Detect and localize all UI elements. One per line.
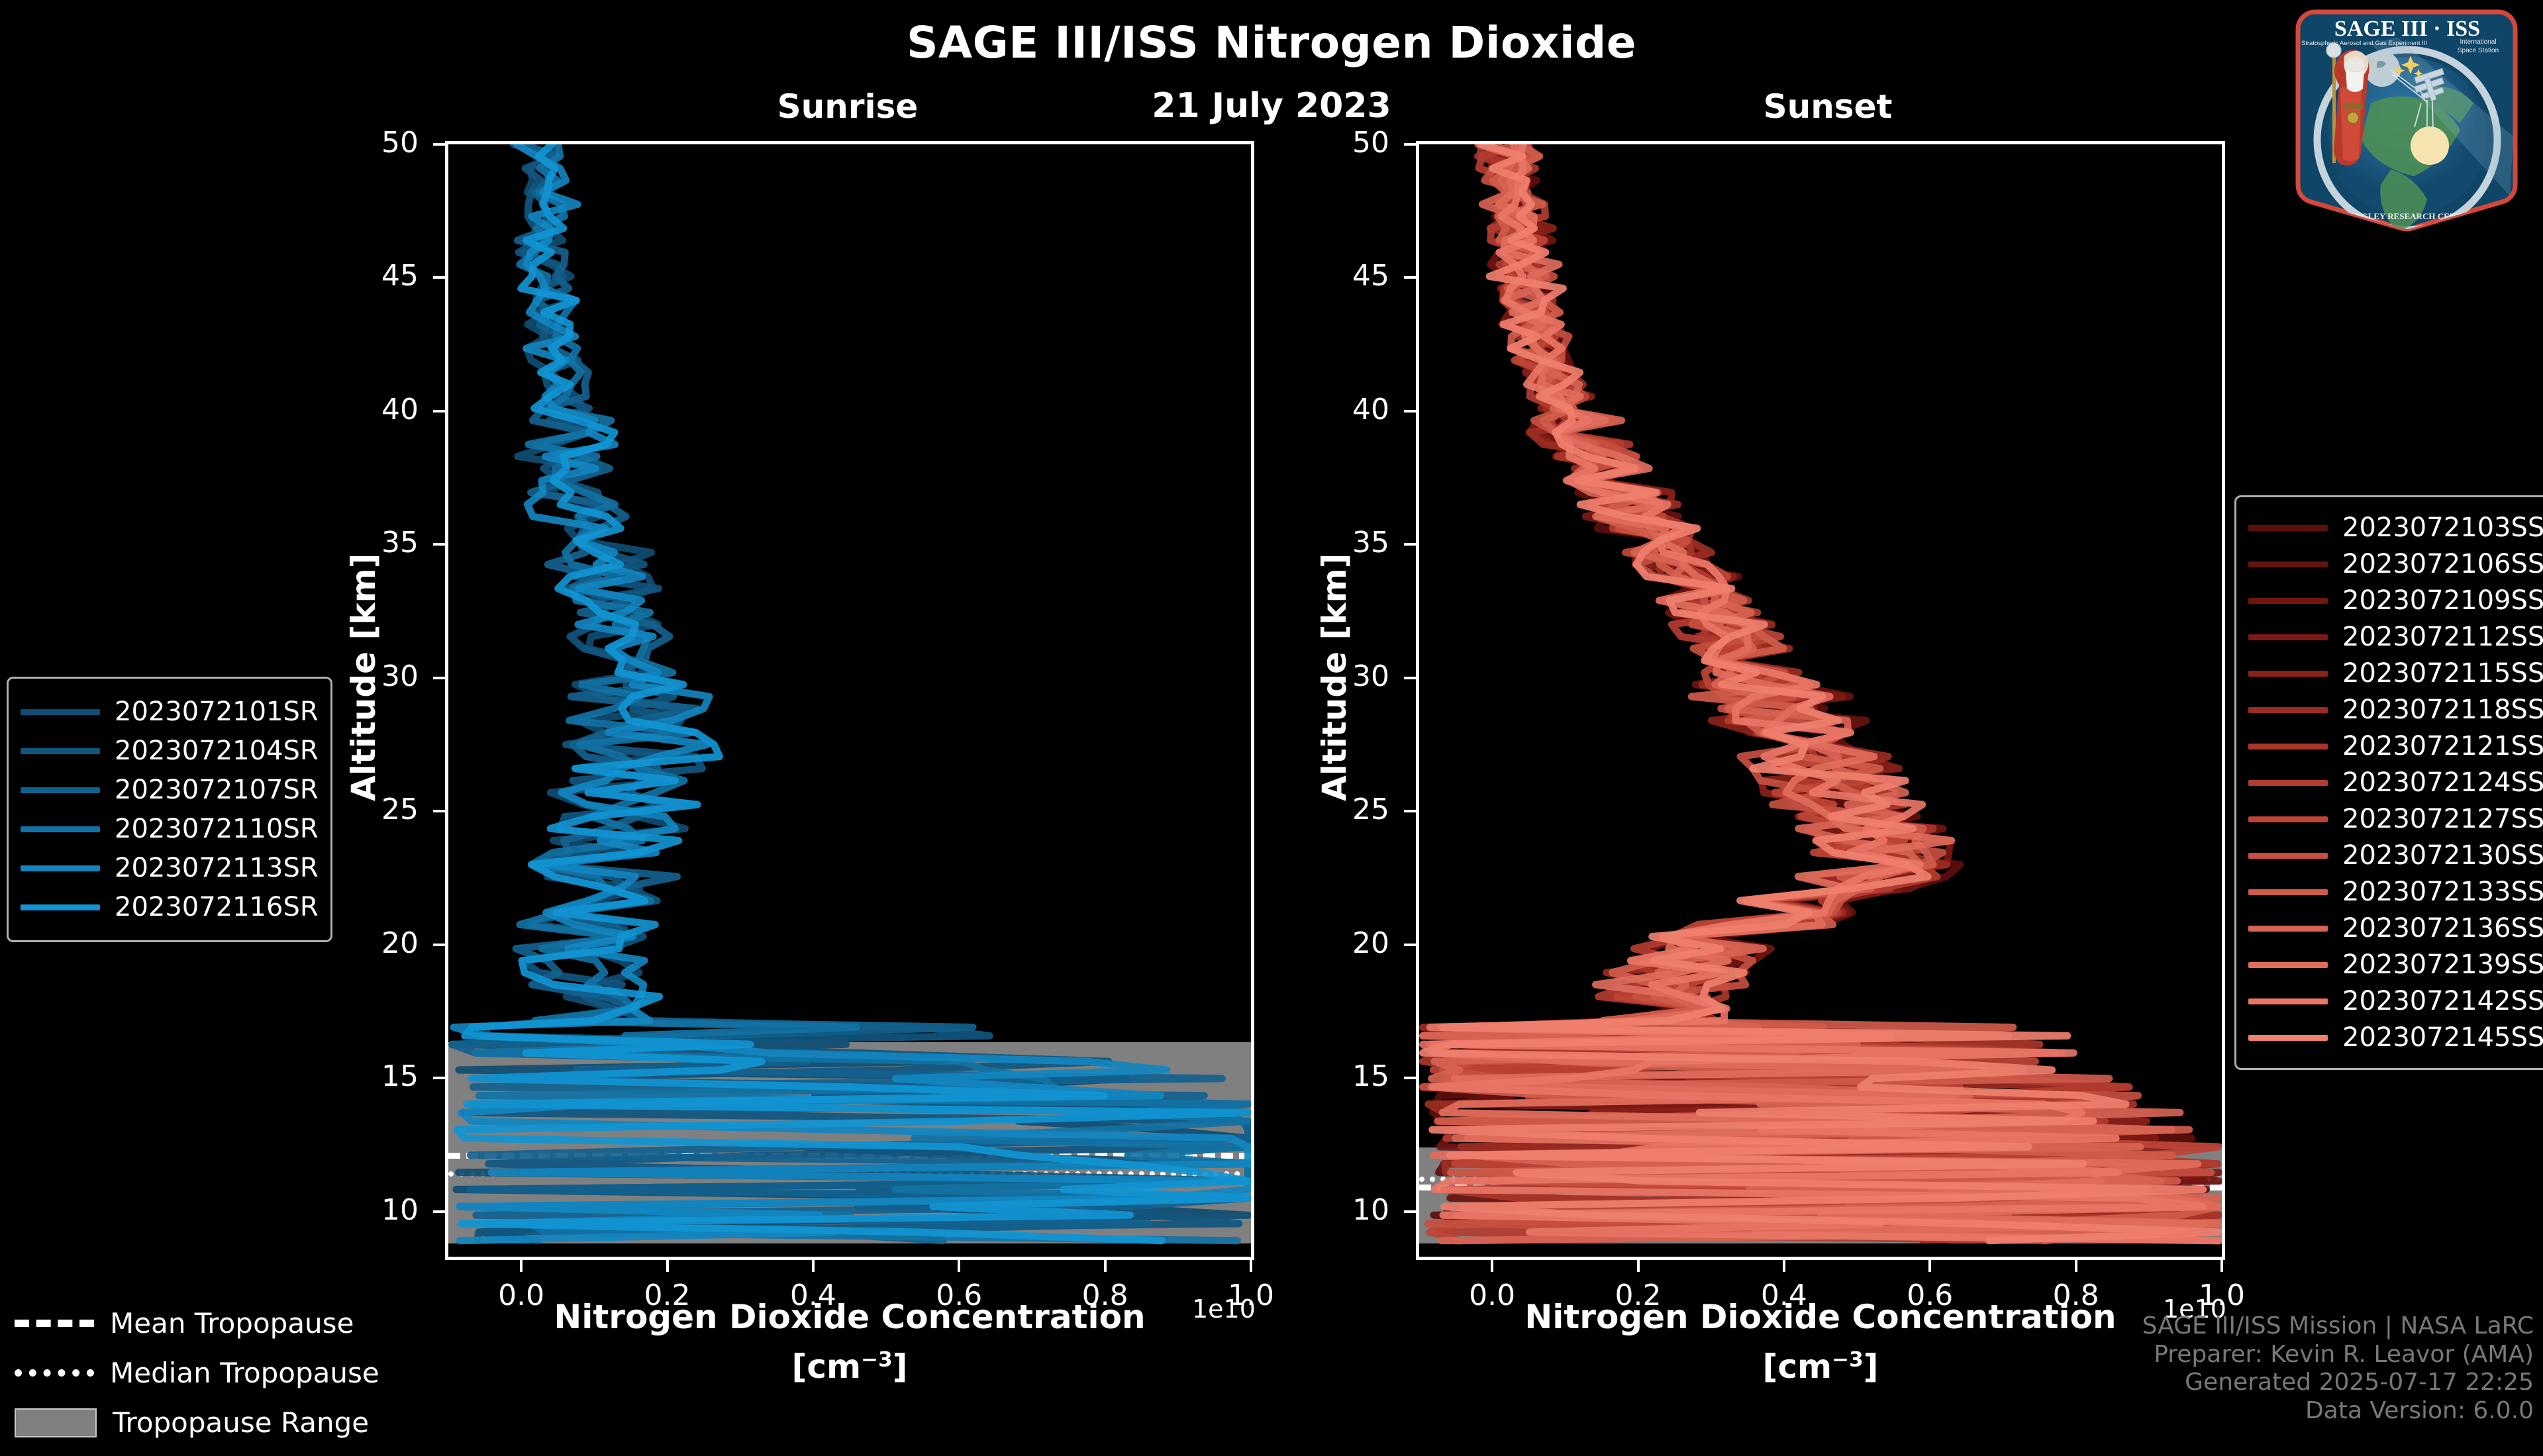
legend-label: 2023072121SS [2342, 731, 2543, 761]
legend-label: 2023072106SS [2342, 549, 2543, 579]
legend-color-swatch [2248, 707, 2328, 713]
x-axis-exponent-sunrise: 1e10 [1192, 1294, 1256, 1324]
sunrise-profile-curves [448, 144, 1251, 1257]
legend-item[interactable]: 2023072107SR [21, 775, 319, 805]
legend-item[interactable]: 2023072109SS [2248, 585, 2543, 616]
y-tick-mark [433, 677, 445, 679]
legend-label: Median Tropopause [110, 1357, 379, 1389]
y-axis-title-sunrise: Altitude [km] [344, 553, 383, 801]
legend-label: 2023072113SR [115, 853, 319, 883]
legend-color-swatch [2248, 962, 2328, 968]
x-tick-mark [2220, 1260, 2223, 1272]
legend-item[interactable]: 2023072101SR [21, 697, 319, 727]
legend-color-swatch [2248, 525, 2328, 531]
legend-item[interactable]: 2023072139SS [2248, 949, 2543, 980]
footer-line-data-version: Data Version: 6.0.0 [2142, 1397, 2534, 1425]
legend-label: 2023072124SS [2342, 767, 2543, 798]
legend-color-swatch [2248, 598, 2328, 604]
legend-item[interactable]: 2023072103SS [2248, 512, 2543, 543]
y-tick-mark [1404, 1077, 1416, 1079]
legend-color-swatch [21, 787, 100, 793]
legend-label: 2023072118SS [2342, 695, 2543, 725]
legend-item[interactable]: 2023072118SS [2248, 695, 2543, 725]
legend-item[interactable]: 2023072133SS [2248, 877, 2543, 907]
y-axis-title-sunset: Altitude [km] [1315, 553, 1354, 801]
y-tick-label: 20 [319, 926, 419, 960]
legend-label: 2023072103SS [2342, 512, 2543, 543]
legend-label: 2023072127SS [2342, 804, 2543, 834]
footer-line-mission: SAGE III/ISS Mission | NASA LaRC [2142, 1312, 2534, 1340]
legend-color-swatch [2248, 744, 2328, 750]
x-tick-mark [1928, 1260, 1931, 1272]
y-tick-mark [1404, 810, 1416, 812]
legend-label: 2023072116SR [115, 892, 319, 922]
logo-subtitle-left: Stratospheric Aerosol and Gas Experiment… [2301, 40, 2427, 47]
y-tick-label: 20 [1290, 926, 1389, 960]
legend-tropopause: Mean Tropopause Median Tropopause Tropop… [15, 1290, 379, 1456]
plot-panel-sunset [1416, 141, 2225, 1260]
legend-item-mean-tropopause: Mean Tropopause [15, 1307, 379, 1339]
logo-ring-text: BALL · NASA LANGLEY RESEARCH CENTER · TA… [2291, 211, 2523, 221]
y-tick-label: 15 [319, 1059, 419, 1093]
x-tick-mark [1637, 1260, 1640, 1272]
legend-item[interactable]: 2023072104SR [21, 736, 319, 766]
panel-subtitle-sunset: Sunset [1682, 87, 1973, 126]
legend-color-swatch [2248, 853, 2328, 859]
sunset-profile-curves [1419, 144, 2222, 1257]
y-tick-label: 15 [1290, 1059, 1389, 1093]
legend-color-swatch [21, 865, 100, 871]
legend-label: 2023072101SR [115, 697, 319, 727]
legend-label: Mean Tropopause [110, 1307, 354, 1339]
y-tick-mark [433, 143, 445, 146]
legend-color-swatch [2248, 1035, 2328, 1041]
y-tick-label: 10 [1290, 1193, 1389, 1227]
legend-color-swatch [2248, 671, 2328, 677]
y-tick-label: 50 [319, 126, 419, 160]
y-tick-label: 45 [1290, 259, 1389, 293]
legend-item[interactable]: 2023072124SS [2248, 767, 2543, 798]
x-tick-mark [1104, 1260, 1107, 1272]
y-tick-mark [1404, 677, 1416, 679]
chart-page: SAGE III/ISS Nitrogen Dioxide Sunrise 21… [0, 0, 2543, 1430]
y-tick-mark [433, 410, 445, 413]
x-tick-mark [1783, 1260, 1785, 1272]
y-tick-mark [1404, 276, 1416, 279]
legend-color-swatch [21, 748, 100, 754]
y-tick-mark [1404, 944, 1416, 946]
legend-label: 2023072115SS [2342, 658, 2543, 689]
legend-item[interactable]: 2023072116SR [21, 892, 319, 922]
y-tick-mark [433, 810, 445, 812]
legend-label: 2023072104SR [115, 736, 319, 766]
y-tick-mark [1404, 143, 1416, 146]
y-tick-label: 40 [1290, 393, 1389, 426]
legend-item[interactable]: 2023072112SS [2248, 622, 2543, 652]
legend-sunrise[interactable]: 2023072101SR2023072104SR2023072107SR2023… [7, 677, 332, 942]
x-tick-mark [666, 1260, 669, 1272]
y-tick-label: 45 [319, 259, 419, 293]
legend-item[interactable]: 2023072127SS [2248, 804, 2543, 834]
x-tick-mark [2075, 1260, 2077, 1272]
x-axis-title-sunrise-line2: [cm−3] [704, 1347, 995, 1386]
x-tick-mark [520, 1260, 523, 1272]
x-axis-title-sunset-line2: [cm−3] [1675, 1347, 1966, 1386]
x-tick-mark [1250, 1260, 1252, 1272]
legend-color-swatch [2248, 998, 2328, 1004]
legend-item[interactable]: 2023072110SR [21, 814, 319, 844]
dashed-line-icon [15, 1320, 94, 1327]
legend-color-swatch [2248, 561, 2328, 567]
y-tick-mark [1404, 1210, 1416, 1213]
y-tick-mark [433, 543, 445, 546]
x-tick-mark [812, 1260, 815, 1272]
y-tick-label: 40 [319, 393, 419, 426]
footer-line-preparer: Preparer: Kevin R. Leavor (AMA) [2142, 1341, 2534, 1369]
legend-label: 2023072107SR [115, 775, 319, 805]
legend-item[interactable]: 2023072130SS [2248, 840, 2543, 871]
subtitle-date: 21 July 2023 [1126, 86, 1417, 126]
x-axis-title-sunrise-line1: Nitrogen Dioxide Concentration [519, 1298, 1181, 1336]
legend-sunset[interactable]: 2023072103SS2023072106SS2023072109SS2023… [2234, 495, 2543, 1070]
legend-color-swatch [21, 826, 100, 832]
footer-line-generated: Generated 2025-07-17 22:25 [2142, 1369, 2534, 1396]
legend-color-swatch [2248, 889, 2328, 895]
panel-subtitle-sunrise: Sunrise [702, 87, 993, 126]
legend-item[interactable]: 2023072113SR [21, 853, 319, 883]
legend-label: 2023072130SS [2342, 840, 2543, 871]
legend-item[interactable]: 2023072145SS [2248, 1022, 2543, 1053]
dotted-line-icon [15, 1369, 94, 1377]
y-tick-mark [433, 276, 445, 279]
legend-label: 2023072133SS [2342, 877, 2543, 907]
filled-box-icon [15, 1408, 97, 1437]
legend-item[interactable]: 2023072115SS [2248, 658, 2543, 689]
legend-label: Tropopause Range [113, 1406, 369, 1439]
legend-color-swatch [2248, 634, 2328, 640]
legend-item[interactable]: 2023072106SS [2248, 549, 2543, 579]
y-tick-mark [433, 1077, 445, 1079]
legend-item-tropopause-range: Tropopause Range [15, 1406, 379, 1439]
y-tick-mark [433, 944, 445, 946]
logo-subtitle-right-2: Space Station [2458, 47, 2499, 54]
legend-color-swatch [21, 904, 100, 910]
logo-subtitle-right-1: International [2460, 38, 2496, 46]
legend-item[interactable]: 2023072136SS [2248, 913, 2543, 944]
legend-color-swatch [2248, 926, 2328, 932]
sage-iii-iss-mission-patch-logo: BALL · NASA LANGLEY RESEARCH CENTER · TA… [2291, 4, 2523, 239]
x-tick-mark [958, 1260, 960, 1272]
y-tick-mark [1404, 410, 1416, 413]
legend-color-swatch [2248, 816, 2328, 822]
legend-label: 2023072112SS [2342, 622, 2543, 652]
y-tick-label: 10 [319, 1193, 419, 1227]
legend-label: 2023072139SS [2342, 949, 2543, 980]
legend-label: 2023072142SS [2342, 986, 2543, 1016]
legend-color-swatch [2248, 780, 2328, 786]
legend-label: 2023072145SS [2342, 1022, 2543, 1053]
legend-item[interactable]: 2023072142SS [2248, 986, 2543, 1016]
y-tick-label: 50 [1290, 126, 1389, 160]
legend-label: 2023072136SS [2342, 913, 2543, 944]
legend-color-swatch [21, 709, 100, 715]
footer-credits: SAGE III/ISS Mission | NASA LaRC Prepare… [2142, 1312, 2534, 1425]
y-tick-mark [1404, 543, 1416, 546]
legend-item-median-tropopause: Median Tropopause [15, 1357, 379, 1389]
y-tick-mark [433, 1210, 445, 1213]
x-tick-mark [1491, 1260, 1493, 1272]
x-axis-title-sunset-line1: Nitrogen Dioxide Concentration [1489, 1298, 2152, 1336]
page-title: SAGE III/ISS Nitrogen Dioxide [0, 17, 2543, 68]
logo-title: SAGE III · ISS [2334, 17, 2480, 41]
legend-label: 2023072109SS [2342, 585, 2543, 616]
legend-item[interactable]: 2023072121SS [2248, 731, 2543, 761]
legend-label: 2023072110SR [115, 814, 319, 844]
plot-panel-sunrise [445, 141, 1254, 1260]
